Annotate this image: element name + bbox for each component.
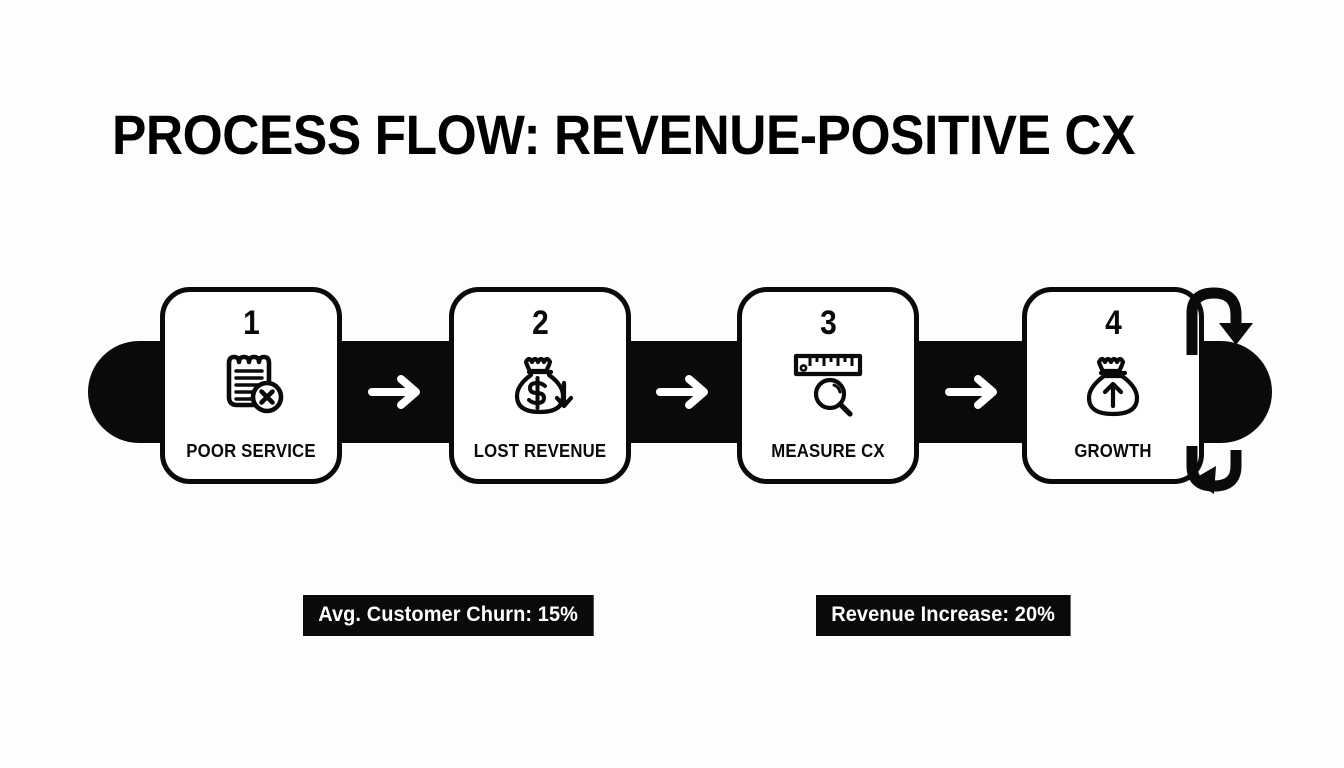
arrow-right-icon: [368, 375, 424, 409]
step-label: LOST REVENUE: [460, 441, 620, 461]
connector-arrow-1: [364, 371, 428, 413]
step-number: 2: [532, 306, 549, 340]
connector-arrow-2: [652, 371, 716, 413]
step-number: 3: [820, 306, 837, 340]
metric-badge-revenue: Revenue Increase: 20%: [816, 595, 1070, 636]
ruler-magnifier-icon: [788, 348, 868, 420]
step-label: GROWTH: [1033, 441, 1193, 461]
arrow-right-icon: [945, 375, 1001, 409]
step-number: 1: [243, 306, 260, 340]
step-number: 4: [1105, 306, 1122, 340]
step-card-3[interactable]: 3 MEASURE CX: [737, 287, 919, 484]
arrow-right-icon: [656, 375, 712, 409]
step-card-1[interactable]: 1 POOR SERVICE: [160, 287, 342, 484]
money-bag-up-arrow-icon: [1080, 348, 1146, 420]
receipt-error-icon: [215, 348, 287, 420]
metric-badge-churn: Avg. Customer Churn: 15%: [303, 595, 593, 636]
loop-arrow-bottom-icon: [1178, 432, 1274, 510]
slide-canvas: PROCESS FLOW: REVENUE-POSITIVE CX: [0, 0, 1344, 768]
step-label: MEASURE CX: [748, 441, 908, 461]
loop-arrow-top-icon: [1186, 283, 1282, 361]
step-card-4[interactable]: 4 GROWTH: [1022, 287, 1204, 484]
step-label: POOR SERVICE: [171, 441, 331, 461]
page-title: PROCESS FLOW: REVENUE-POSITIVE CX: [112, 101, 1135, 169]
connector-arrow-3: [941, 371, 1005, 413]
step-card-2[interactable]: 2 LOST REVENUE: [449, 287, 631, 484]
money-bag-down-arrow-icon: [504, 348, 576, 420]
